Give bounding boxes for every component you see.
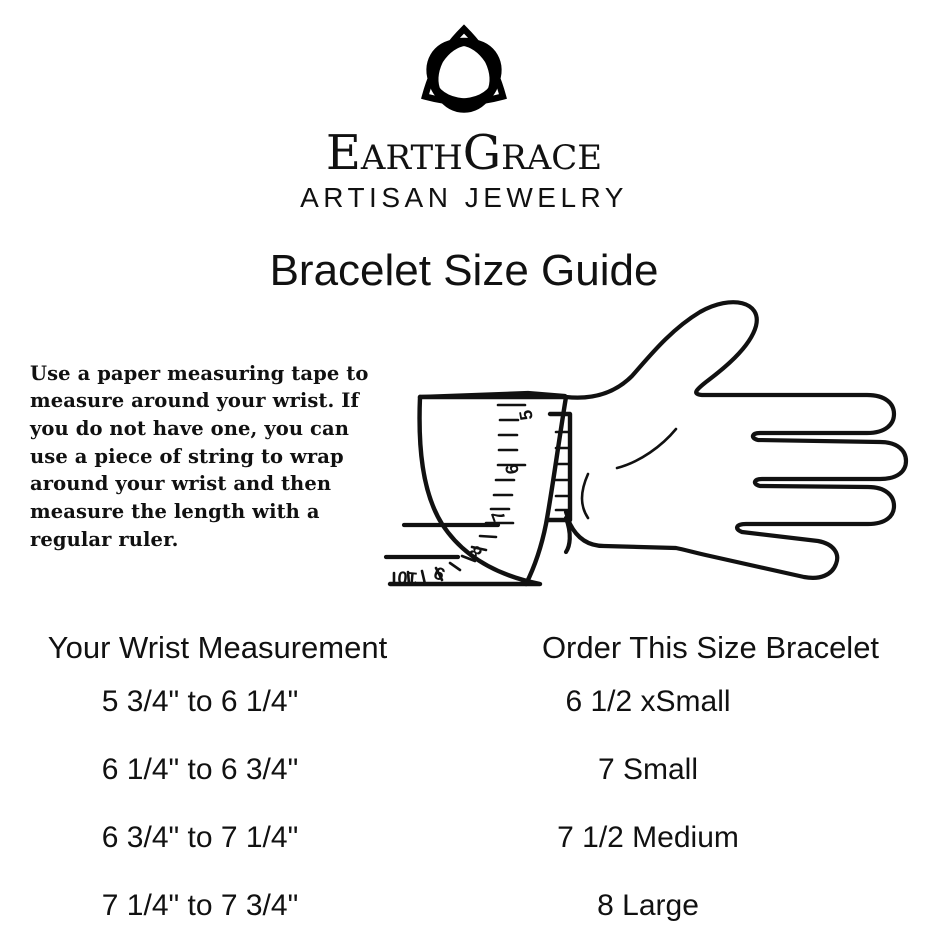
page-title: Bracelet Size Guide <box>0 248 928 294</box>
hand-outline-path <box>566 302 906 578</box>
bracelet-size-table: Your Wrist Measurement Order This Size B… <box>0 628 928 952</box>
table-row: 5 3/4" to 6 1/4" 6 1/2 xSmall <box>0 680 928 748</box>
palm-thumb-crease-line <box>617 429 676 468</box>
brand-name-cap-e: E <box>326 125 361 180</box>
cell-wrist-measurement: 7 1/4" to 7 3/4" <box>0 884 448 952</box>
brand-name-cap-g: G <box>463 125 501 180</box>
tape-label-9: 9 <box>431 562 449 584</box>
column-header-wrist-measurement: Your Wrist Measurement <box>0 628 483 680</box>
tape-label-10: 10 <box>397 567 419 589</box>
table-row: 6 1/4" to 6 3/4" 7 Small <box>0 748 928 816</box>
column-header-order-size: Order This Size Bracelet <box>483 628 928 680</box>
wrist-left-join-line <box>566 518 570 552</box>
table-row: 6 3/4" to 7 1/4" 7 1/2 Medium <box>0 816 928 884</box>
table-header-row: Your Wrist Measurement Order This Size B… <box>0 628 928 680</box>
celtic-triquetra-knot-icon <box>409 18 519 118</box>
hand-with-measuring-tape-illustration: 5 6 7 8 9 10 <box>380 296 920 601</box>
brand-block: EARTHGRACE ARTISAN JEWELRY <box>0 18 928 212</box>
brand-tagline: ARTISAN JEWELRY <box>0 184 928 212</box>
svg-text:EARTHGRACE: EARTHGRACE <box>326 125 602 180</box>
measuring-instructions-text: Use a paper measuring tape to measure ar… <box>30 360 380 554</box>
brand-wordmark: EARTHGRACE <box>284 124 644 180</box>
brand-name-arth: ARTH <box>360 138 463 178</box>
cell-bracelet-size: 7 Small <box>448 748 928 816</box>
cell-wrist-measurement: 6 3/4" to 7 1/4" <box>0 816 448 884</box>
cell-wrist-measurement: 6 1/4" to 6 3/4" <box>0 748 448 816</box>
cell-bracelet-size: 8 Large <box>448 884 928 952</box>
tape-inner-edge-line <box>526 397 566 584</box>
brand-name-race: RACE <box>501 138 602 178</box>
tape-label-5: 5 <box>515 408 536 421</box>
cell-bracelet-size: 7 1/2 Medium <box>448 816 928 884</box>
table-row: 7 1/4" to 7 3/4" 8 Large <box>0 884 928 952</box>
cell-bracelet-size: 6 1/2 xSmall <box>448 680 928 748</box>
wrist-crease-line <box>582 474 588 518</box>
cell-wrist-measurement: 5 3/4" to 6 1/4" <box>0 680 448 748</box>
